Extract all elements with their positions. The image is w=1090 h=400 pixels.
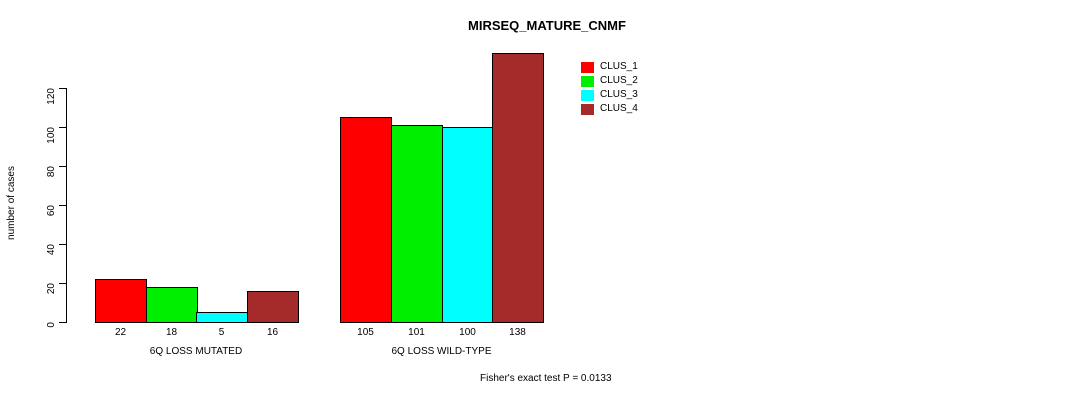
bar	[340, 117, 392, 323]
y-axis-title: number of cases	[7, 153, 17, 253]
bar-value-label: 100	[442, 328, 493, 338]
y-axis-tick	[59, 205, 66, 206]
bar-value-label: 22	[95, 328, 146, 338]
group-axis-label: 6Q LOSS WILD-TYPE	[340, 347, 543, 357]
bar-value-label: 5	[196, 328, 247, 338]
legend-item-label: CLUS_4	[600, 104, 638, 114]
legend-color-swatch	[581, 62, 594, 73]
y-axis-tick	[59, 88, 66, 89]
legend-color-swatch	[581, 76, 594, 87]
bar	[247, 291, 299, 323]
legend-item-label: CLUS_1	[600, 62, 638, 72]
legend-item: CLUS_1	[581, 60, 638, 74]
legend-item: CLUS_3	[581, 88, 638, 102]
y-axis-line	[66, 88, 67, 323]
bar-value-label: 138	[492, 328, 543, 338]
legend-color-swatch	[581, 104, 594, 115]
bar-value-label: 18	[146, 328, 197, 338]
statistical-test-annotation: Fisher's exact test P = 0.0133	[480, 374, 612, 384]
bar-value-label: 16	[247, 328, 298, 338]
y-axis-tick-label: 120	[47, 88, 57, 140]
bar	[492, 53, 544, 323]
y-axis-tick	[59, 166, 66, 167]
y-axis-tick	[59, 244, 66, 245]
y-axis-tick	[59, 322, 66, 323]
bar	[391, 125, 443, 323]
y-axis-tick	[59, 283, 66, 284]
y-axis-tick	[59, 127, 66, 128]
bar	[442, 127, 494, 323]
bar-value-label: 105	[340, 328, 391, 338]
bar	[146, 287, 198, 323]
chart-title: MIRSEQ_MATURE_CNMF	[468, 18, 626, 33]
legend-item: CLUS_2	[581, 74, 638, 88]
legend-color-swatch	[581, 90, 594, 101]
bar-chart-figure: MIRSEQ_MATURE_CNMF 020406080100120 numbe…	[0, 0, 1090, 400]
legend-item-label: CLUS_3	[600, 90, 638, 100]
group-axis-label: 6Q LOSS MUTATED	[95, 347, 297, 357]
legend: CLUS_1CLUS_2CLUS_3CLUS_4	[581, 60, 638, 116]
bar	[196, 312, 248, 323]
legend-item: CLUS_4	[581, 102, 638, 116]
bar-value-label: 101	[391, 328, 442, 338]
legend-item-label: CLUS_2	[600, 76, 638, 86]
bar	[95, 279, 147, 323]
